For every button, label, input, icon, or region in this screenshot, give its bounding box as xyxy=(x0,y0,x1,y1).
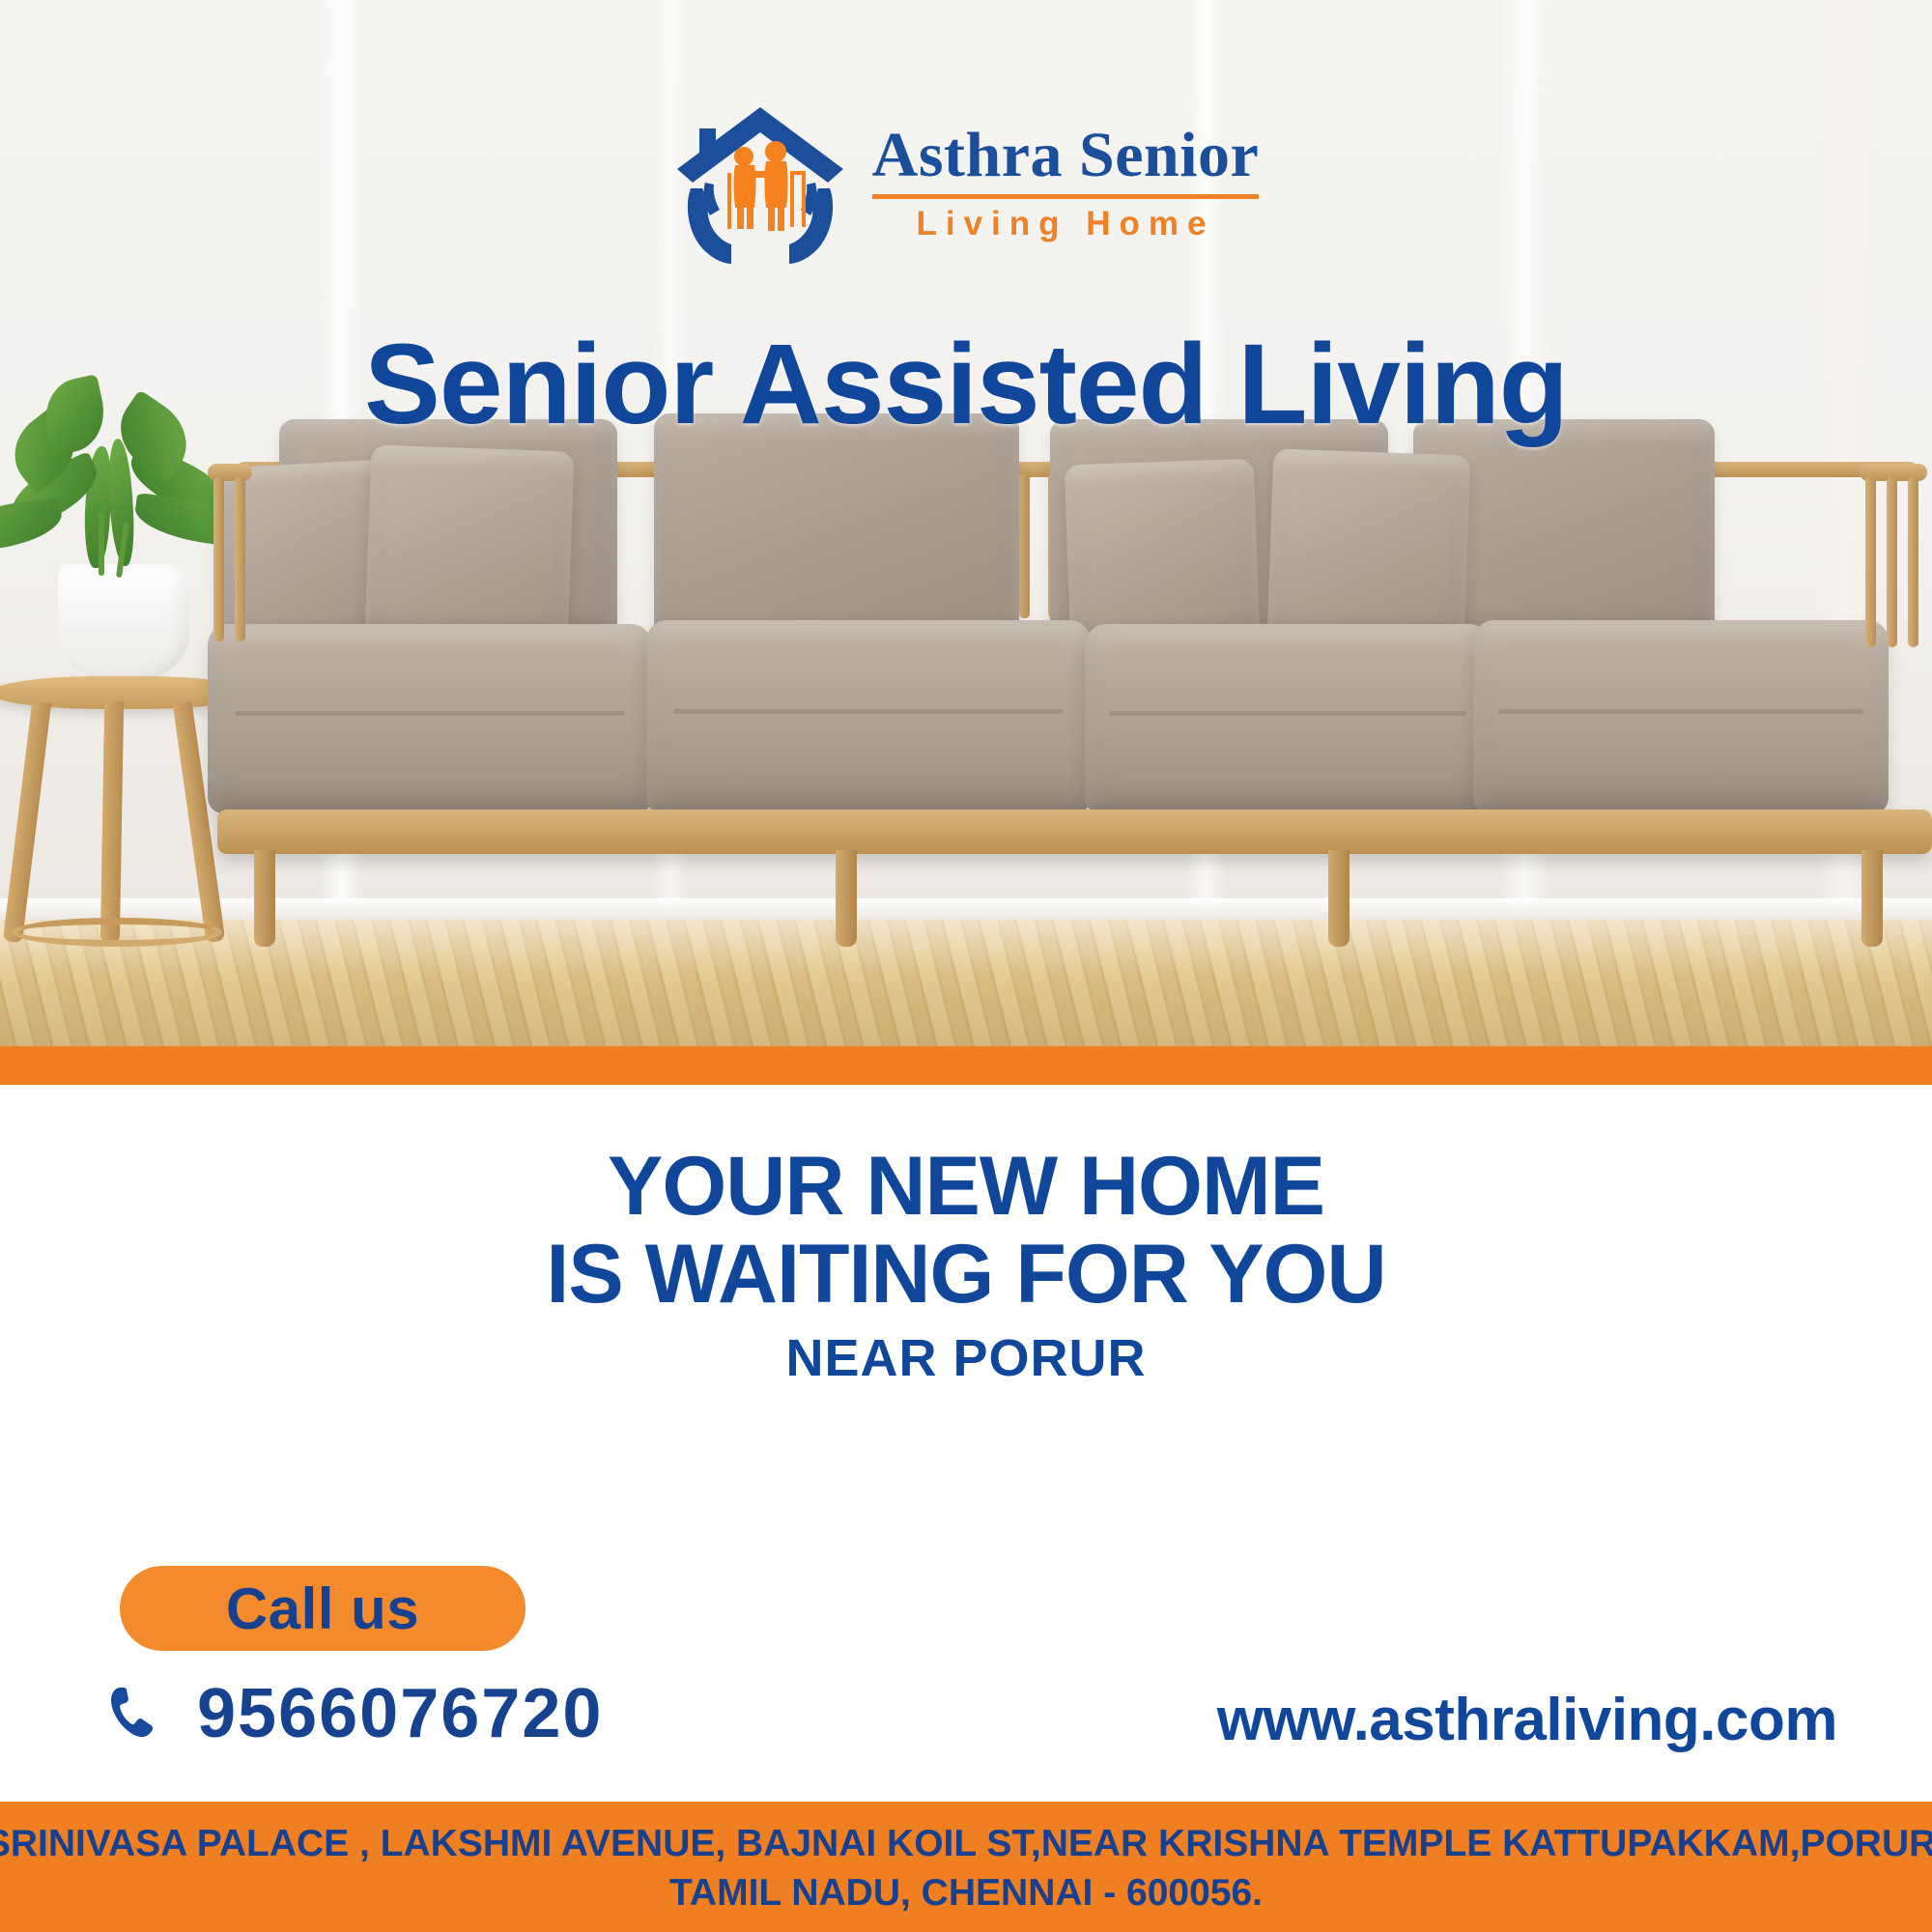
brand-logo-text: Asthra Senior Living Home xyxy=(872,124,1260,241)
sofa-back-cushion xyxy=(654,413,1019,649)
hero-photo-livingroom: Asthra Senior Living Home Senior Assiste… xyxy=(0,0,1932,1046)
phone-contact-row[interactable]: 9566076720 xyxy=(106,1674,603,1753)
sofa-arm-spindle xyxy=(1908,477,1918,647)
promo-tagline: YOUR NEW HOME IS WAITING FOR YOU xyxy=(0,1143,1932,1319)
promo-tagline-line1: YOUR NEW HOME xyxy=(608,1140,1324,1233)
address-line-1: SRINIVASA PALACE , LAKSHMI AVENUE, BAJNA… xyxy=(0,1822,1932,1867)
throw-pillow xyxy=(1065,459,1261,649)
address-line-2: TAMIL NADU, CHENNAI - 600056. xyxy=(669,1871,1263,1917)
sofa-base-frame xyxy=(217,810,1932,854)
sofa xyxy=(217,502,1932,966)
call-us-button[interactable]: Call us xyxy=(120,1566,526,1651)
call-us-label: Call us xyxy=(226,1576,419,1642)
footer-address-bar: SRINIVASA PALACE , LAKSHMI AVENUE, BAJNA… xyxy=(0,1802,1932,1932)
plant-leaf xyxy=(0,497,65,554)
sofa-leg xyxy=(1861,850,1883,947)
table-leg xyxy=(3,701,51,944)
sofa-leg xyxy=(1328,850,1350,947)
sofa-seat-cushion xyxy=(1085,624,1491,813)
website-url[interactable]: www.asthraliving.com xyxy=(1217,1686,1837,1754)
phone-number: 9566076720 xyxy=(197,1674,603,1753)
promo-panel: YOUR NEW HOME IS WAITING FOR YOU NEAR PO… xyxy=(0,1085,1932,1802)
brand-logo: Asthra Senior Living Home xyxy=(0,93,1932,271)
table-foot-ring xyxy=(12,918,222,947)
house-hands-seniors-icon xyxy=(673,99,847,266)
sofa-arm xyxy=(208,464,252,804)
plant-pot xyxy=(58,564,189,682)
sofa-arm-spindle xyxy=(213,477,224,641)
brand-tagline: Living Home xyxy=(916,207,1214,241)
brand-divider-rule xyxy=(872,194,1260,199)
throw-pillow xyxy=(365,444,575,644)
phone-handset-icon xyxy=(106,1683,168,1745)
advertisement-poster: Asthra Senior Living Home Senior Assiste… xyxy=(0,0,1932,1932)
promo-tagline-line2: IS WAITING FOR YOU xyxy=(0,1231,1932,1319)
plant-stem xyxy=(99,512,104,576)
throw-pillow xyxy=(1267,448,1471,644)
orange-divider-band xyxy=(0,1046,1932,1085)
hero-headline: Senior Assisted Living xyxy=(0,327,1932,442)
brand-name: Asthra Senior xyxy=(872,124,1260,187)
sofa-arm-spindle xyxy=(1865,477,1876,647)
sofa-seat-cushion xyxy=(646,620,1091,813)
promo-subline: NEAR PORUR xyxy=(0,1328,1932,1388)
table-leg xyxy=(100,701,124,943)
sofa-arm-spindle xyxy=(235,477,245,641)
sofa-spindle xyxy=(1019,473,1030,618)
sofa-leg xyxy=(254,850,275,947)
sofa-arm-spindle xyxy=(1887,477,1897,647)
sofa-seat-cushion xyxy=(208,624,652,813)
sofa-seat-cushion xyxy=(1473,620,1889,813)
sofa-arm xyxy=(1860,464,1927,804)
sofa-leg xyxy=(836,850,857,947)
